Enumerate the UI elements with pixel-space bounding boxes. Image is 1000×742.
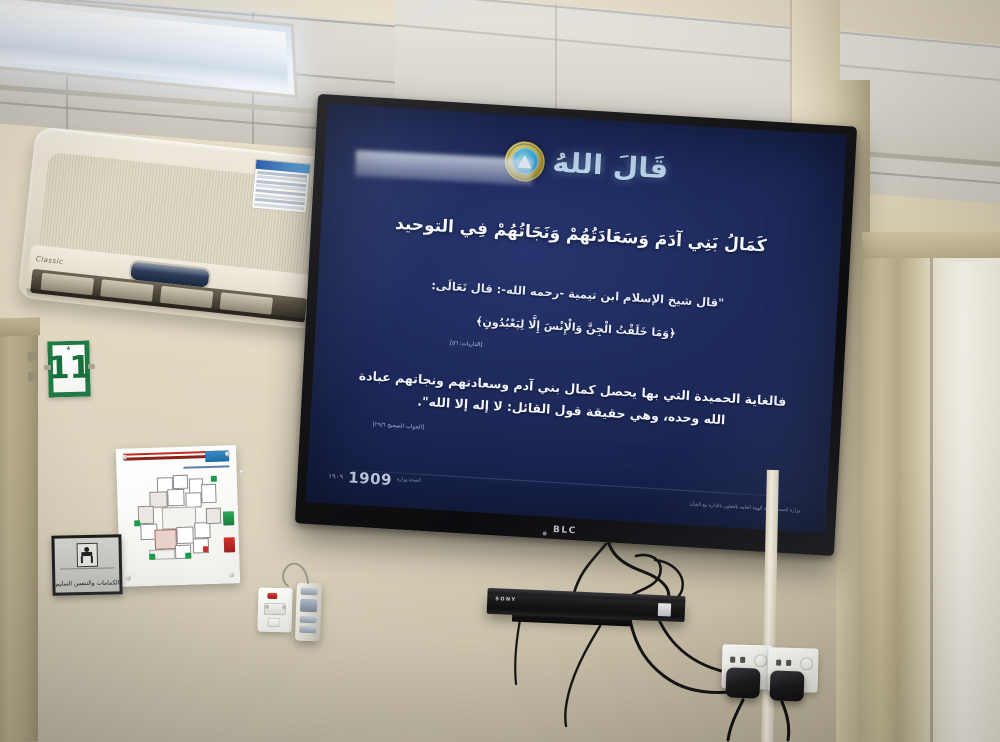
evac-map-url-line xyxy=(183,465,229,468)
room-sign-mount xyxy=(88,364,95,369)
safety-instruction-sign: الكمامات والتنفس السليم xyxy=(51,534,122,595)
poster-screw-icon xyxy=(225,451,230,456)
slide-quote-intro: "قال شيخ الإسلام ابن تيمية -رحمه الله-: … xyxy=(364,272,791,317)
emergency-call-button[interactable] xyxy=(267,593,277,599)
tv-brand-logo: BLC xyxy=(553,525,577,536)
evac-map-title-block xyxy=(123,450,229,466)
slide-title: كَمَالُ بَنِي آدَمَ وَسَعَادَتُهُمْ وَنَ… xyxy=(357,209,805,262)
left-door-hinge xyxy=(28,352,38,361)
poster-screw-icon xyxy=(126,576,131,581)
room-number-value: 11 xyxy=(48,352,91,384)
air-conditioner-unit[interactable]: Classic xyxy=(18,126,335,329)
evac-map-green-legend xyxy=(223,511,234,525)
right-door-leaf[interactable] xyxy=(938,262,1000,742)
room-sign-mount xyxy=(44,365,51,370)
footer-number-arabic: ١٩٠٩ xyxy=(328,472,343,481)
safety-sign-text: الكمامات والتنفس السليم xyxy=(55,579,119,587)
evac-map-red-legend xyxy=(224,537,235,552)
slide-footer-right: وزارة الصحة العامة الهيئة العامة بالتعاو… xyxy=(689,503,800,516)
slide-body-reference: [الجواب الصحيح ٢٩/٦] xyxy=(373,422,425,431)
socket-switch-icon[interactable] xyxy=(800,657,813,670)
safety-sign-face: الكمامات والتنفس السليم xyxy=(54,537,119,592)
slide-footer-left: ١٩٠٩ 1909 الصحة وزارة xyxy=(328,467,421,491)
allah-calligraphy-icon: قَالَ اللهُ xyxy=(552,150,669,184)
poster-screw-icon xyxy=(229,572,234,577)
right-door-header xyxy=(862,232,1000,258)
right-door-reveal xyxy=(930,258,933,742)
nurse-call-panel[interactable] xyxy=(257,588,292,633)
power-plug-right[interactable] xyxy=(769,670,804,701)
soundbar-brand-label: SONY xyxy=(495,596,516,603)
tv-screen[interactable]: قَالَ اللهُ كَمَالُ بَنِي آدَمَ وَسَعَاد… xyxy=(306,103,847,533)
ac-service-label xyxy=(251,159,311,214)
left-door-hinge xyxy=(28,372,38,381)
room-photo-scene: Classic قَالَ اللهُ كَمَالُ بَنِي آدَمَ … xyxy=(0,0,1000,742)
slide-ayah-reference: [الذاريات: ٥٦] xyxy=(450,341,483,349)
left-door-frame[interactable] xyxy=(0,318,38,742)
left-door-header xyxy=(0,317,40,337)
room-number-sign: ▲ 11 xyxy=(47,340,90,397)
power-plug-left[interactable] xyxy=(725,667,760,698)
socket-switch-icon[interactable] xyxy=(754,654,767,667)
slide-quran-ayah: ﴿وَمَا خَلَقْتُ الْجِنَّ وَالْإِنْسَ إِل… xyxy=(378,308,773,349)
evac-map-floorplan xyxy=(131,474,226,561)
call-panel-switch[interactable] xyxy=(268,618,280,627)
nurse-call-pendant[interactable] xyxy=(295,583,322,642)
footer-subtitle: الصحة وزارة xyxy=(397,477,421,484)
evacuation-map-poster xyxy=(116,445,240,587)
person-pictogram-icon xyxy=(76,543,97,567)
wall-screw-icon xyxy=(240,470,244,474)
footer-number: 1909 xyxy=(348,468,393,489)
soundbar-badge-icon xyxy=(658,603,672,617)
